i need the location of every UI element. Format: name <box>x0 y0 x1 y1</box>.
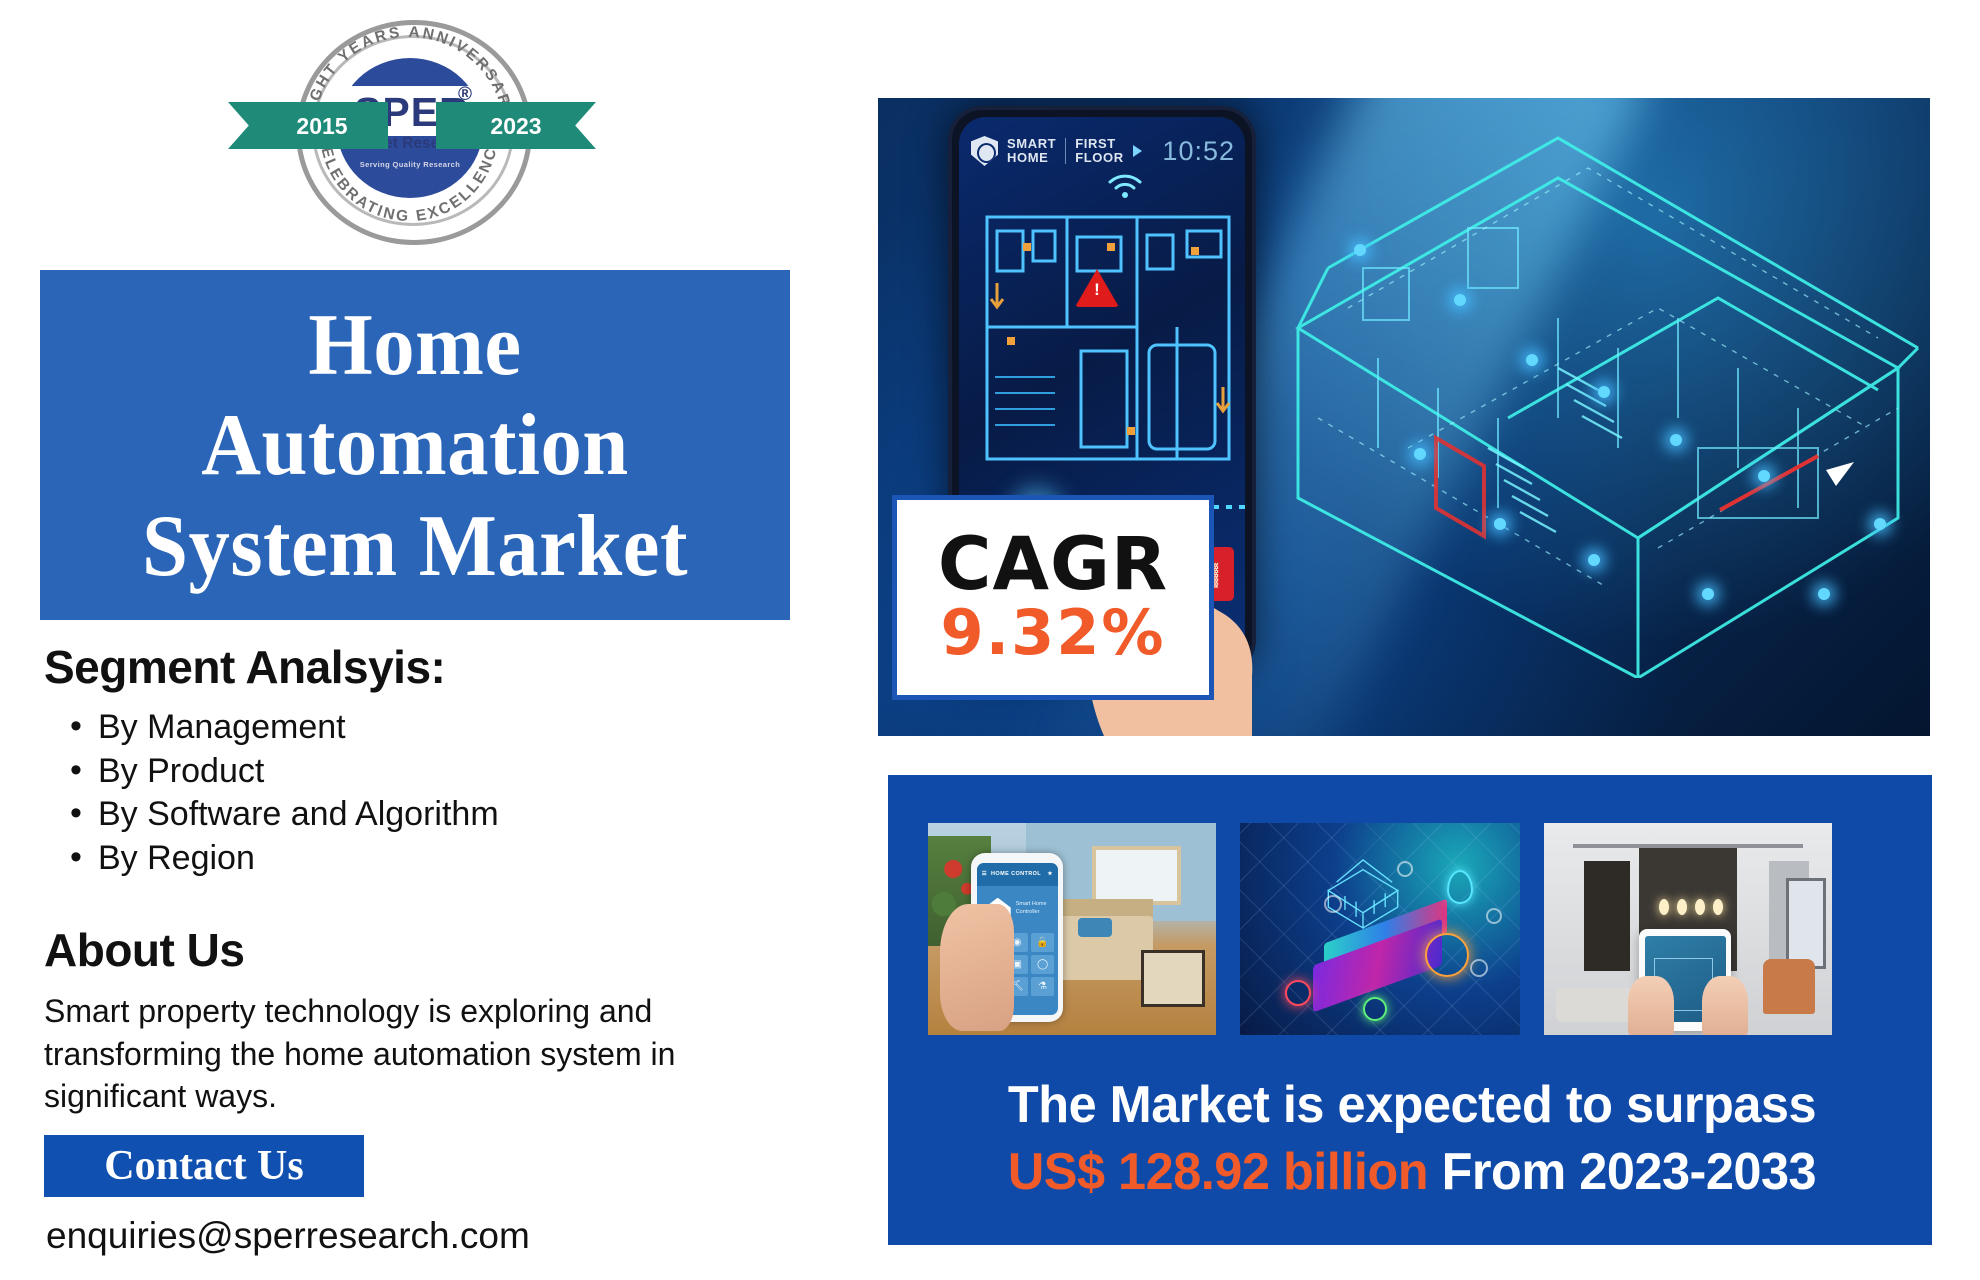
thermostat-icon[interactable]: ⚗ <box>1031 977 1053 996</box>
contact-us-button[interactable]: Contact Us <box>44 1135 364 1197</box>
banner-line-2: US$ 128.92 billion From 2023-2033 <box>927 1142 1897 1203</box>
about-body: Smart property technology is exploring a… <box>44 990 704 1118</box>
floor-label: FIRST FLOOR <box>1075 137 1124 164</box>
cagr-callout: CAGR 9.32% <box>892 495 1214 700</box>
thumbnail-isometric-network <box>1240 823 1520 1035</box>
banner-text: The Market is expected to surpass US$ 12… <box>912 1075 1912 1204</box>
logo-ribbon-right: 2023 <box>436 102 596 149</box>
status-divider <box>1065 138 1066 164</box>
title-line-1: Home <box>308 297 521 394</box>
lock-icon[interactable]: 🔒 <box>1031 933 1053 952</box>
play-triangle-icon[interactable] <box>1133 145 1142 157</box>
segment-list: By Management By Product By Software and… <box>60 706 499 880</box>
list-item: By Region <box>98 837 499 881</box>
segment-heading: Segment Analsyis: <box>44 640 445 694</box>
contact-email[interactable]: enquiries@sperresearch.com <box>46 1215 530 1257</box>
cagr-label: CAGR <box>938 530 1168 599</box>
list-item: By Product <box>98 750 499 794</box>
circle-icon[interactable]: ◯ <box>1031 955 1053 974</box>
logo-year-start: 2015 <box>228 113 402 140</box>
thumbnail-smart-home-phone: ☰ HOME CONTROL ★ Smart Home Controller ☀ <box>928 823 1216 1035</box>
app-title: Smart Home <box>1016 901 1047 907</box>
banner-amount: US$ 128.92 billion <box>1008 1143 1428 1201</box>
banner-line-1: The Market is expected to surpass <box>927 1075 1897 1136</box>
floor-plan-diagram <box>977 187 1239 477</box>
logo-ribbon-left: 2015 <box>228 102 388 149</box>
smart-home-label: SMART HOME <box>1007 137 1056 164</box>
logo-year-end: 2023 <box>436 113 610 140</box>
sper-logo: EIGHT YEARS ANNIVERSARY CELEBRATING EXCE… <box>290 14 540 242</box>
page-title: Home Automation System Market <box>63 270 768 597</box>
thumbnail-strip: ☰ HOME CONTROL ★ Smart Home Controller ☀ <box>928 823 1832 1035</box>
app-subtitle: Controller <box>1016 909 1040 915</box>
phone-status-bar: SMART HOME FIRST FLOOR 10:52 <box>971 131 1235 171</box>
logo-tagline: Serving Quality Research <box>352 160 468 169</box>
banner-period: From 2023-2033 <box>1428 1143 1816 1201</box>
list-item: By Management <box>98 706 499 750</box>
list-item: By Software and Algorithm <box>98 793 499 837</box>
cagr-value: 9.32% <box>940 600 1165 665</box>
hamburger-icon: ☰ <box>982 871 987 877</box>
left-column: EIGHT YEARS ANNIVERSARY CELEBRATING EXCE… <box>0 0 880 1280</box>
title-line-2: Automation <box>201 397 629 494</box>
star-icon: ★ <box>1047 871 1052 877</box>
title-line-3: System Market <box>142 498 688 595</box>
floor-label-text: FLOOR <box>1075 150 1124 165</box>
holographic-house-icon <box>1258 118 1930 678</box>
app-bar-title: HOME CONTROL <box>991 871 1041 877</box>
bottom-banner: ☰ HOME CONTROL ★ Smart Home Controller ☀ <box>888 775 1932 1245</box>
thumbnail-loft-tablet <box>1544 823 1832 1035</box>
title-band: Home Automation System Market <box>40 270 790 620</box>
home-label: HOME <box>1007 150 1048 165</box>
phone-clock: 10:52 <box>1162 136 1235 167</box>
about-heading: About Us <box>44 923 244 977</box>
shield-check-icon <box>971 136 998 166</box>
